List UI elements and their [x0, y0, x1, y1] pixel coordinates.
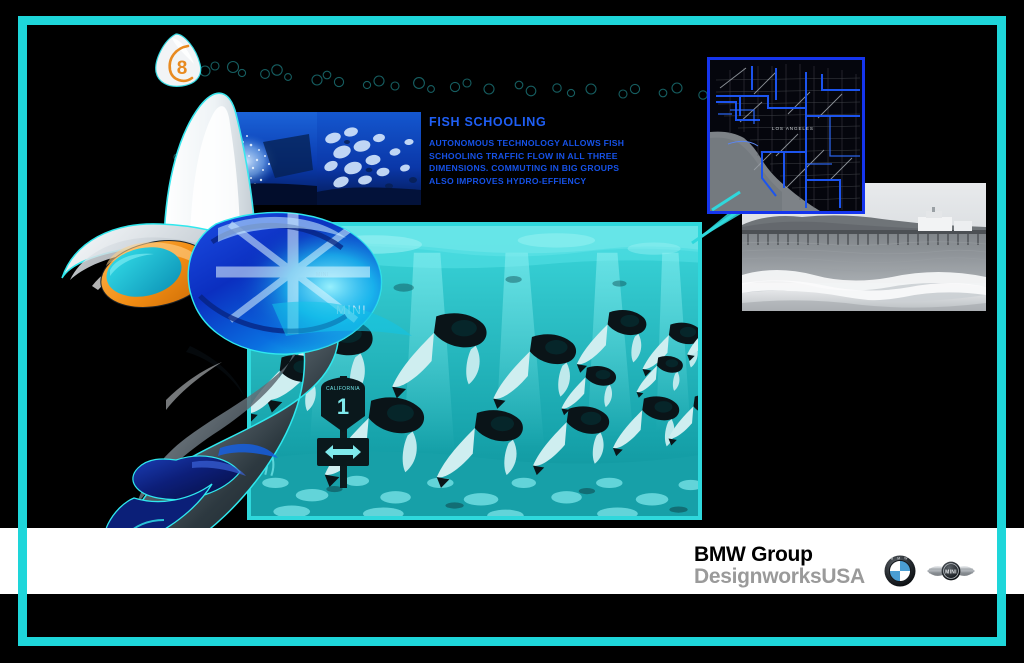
fish-body-line-3: DIMENSIONS. COMMUTING IN BIG GROUPS	[429, 162, 625, 175]
brand-marks: B M W	[884, 554, 984, 588]
svg-text:B M W: B M W	[891, 557, 909, 561]
fish-schooling-title: FISH SCHOOLING	[429, 115, 625, 129]
fish-body-line-1: AUTONOMOUS TECHNOLOGY ALLOWS FISH	[429, 137, 625, 150]
map-city-label: LOS ANGELES	[772, 126, 814, 131]
fish-schooling-text-block: FISH SCHOOLING AUTONOMOUS TECHNOLOGY ALL…	[429, 115, 625, 188]
fish-body-line-4: ALSO IMPROVES HYDRO-EFFIENCY	[429, 175, 625, 188]
badge-number: 8	[177, 58, 188, 79]
fish-body-line-2: SCHOOLING TRAFFIC FLOW IN ALL THREE	[429, 150, 625, 163]
footer-line-1: BMW Group	[694, 544, 865, 566]
map-graphic: LOS ANGELES	[710, 60, 862, 211]
bmw-roundel-logo: B M W	[884, 555, 916, 587]
svg-text:MINI: MINI	[316, 272, 329, 278]
svg-text:MINI: MINI	[945, 569, 957, 575]
bmw-group-designworks-footer: BMW Group DesignworksUSA	[694, 544, 865, 589]
fish-schooling-body: AUTONOMOUS TECHNOLOGY ALLOWS FISH SCHOOL…	[429, 137, 625, 188]
mini-underwater-concept-render: MINI MINI	[40, 28, 440, 573]
los-angeles-freeway-map: LOS ANGELES	[707, 57, 865, 214]
number-8-badge: 8	[152, 32, 204, 88]
footer-line-2: DesignworksUSA	[694, 566, 865, 588]
presentation-board: FISH SCHOOLING AUTONOMOUS TECHNOLOGY ALL…	[0, 0, 1024, 663]
footer-band	[0, 528, 1024, 594]
mini-wings-logo: MINI	[926, 559, 976, 583]
